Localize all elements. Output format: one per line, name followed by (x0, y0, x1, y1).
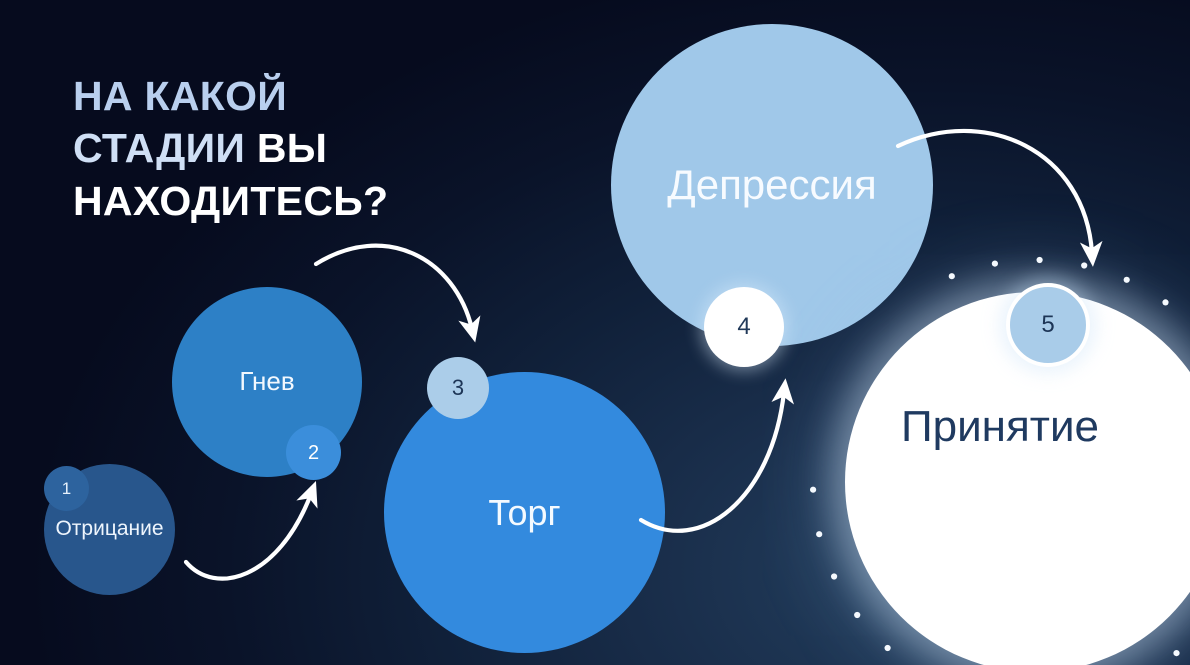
stage-badge-2[interactable]: 2 (286, 425, 341, 480)
stage-bubble-bargaining[interactable]: Торг (384, 372, 665, 653)
stage-badge-5[interactable]: 5 (1006, 283, 1090, 367)
stage-label-anger: Гнев (239, 368, 294, 395)
stage-badge-2-number: 2 (308, 443, 319, 463)
stage-label-acceptance: Принятие (901, 404, 1099, 450)
stage-label-bargaining: Торг (488, 494, 560, 532)
stage-badge-3-number: 3 (452, 377, 464, 399)
page-title-line-3: НАХОДИТЕСЬ? (73, 175, 493, 227)
stage-badge-4-number: 4 (737, 315, 750, 339)
arrow-denial-to-anger (186, 494, 311, 579)
stage-badge-3[interactable]: 3 (427, 357, 489, 419)
stage-label-denial: Отрицание (55, 518, 163, 540)
diagram-scene: Отрицание Гнев Торг Депрессия Принятие (0, 0, 1190, 665)
arrow-anger-to-bargaining (316, 246, 472, 329)
page-title-line-2-a: СТАДИИ (73, 125, 257, 171)
stage-badge-1-number: 1 (62, 480, 71, 497)
stage-badge-1[interactable]: 1 (44, 466, 89, 511)
slide-canvas: Отрицание Гнев Торг Депрессия Принятие (0, 0, 1190, 665)
page-title-line-2-b: ВЫ (257, 125, 327, 171)
stage-badge-5-number: 5 (1041, 313, 1054, 337)
page-title: НА КАКОЙ СТАДИИ ВЫ НАХОДИТЕСЬ? (73, 70, 493, 227)
stage-label-depression: Депрессия (667, 163, 876, 207)
stage-badge-4[interactable]: 4 (704, 287, 784, 367)
page-title-line-1: НА КАКОЙ (73, 70, 493, 122)
page-title-line-2: СТАДИИ ВЫ (73, 122, 493, 174)
